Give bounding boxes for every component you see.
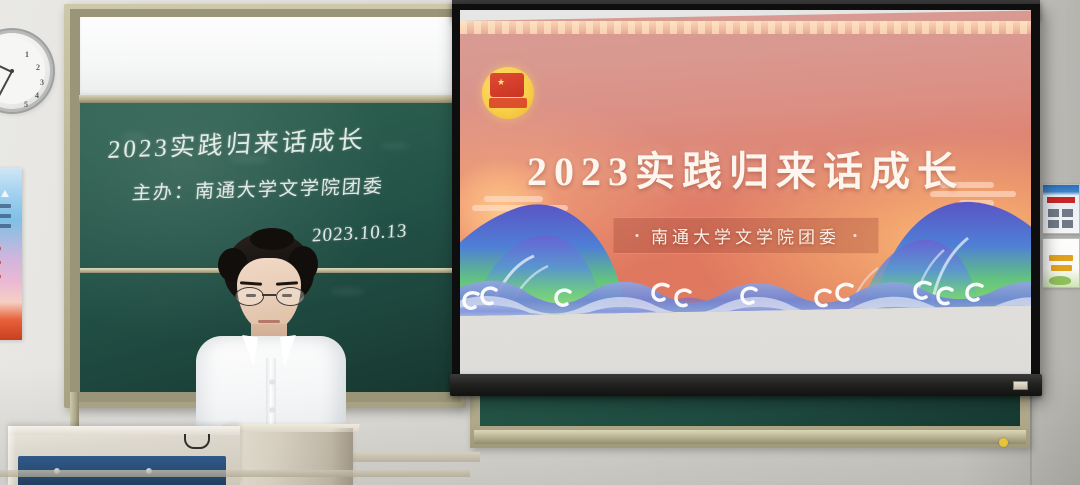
- right-wall-poster-green: [1042, 238, 1080, 288]
- leaf-icon: [1049, 276, 1071, 285]
- clock-numeral-1: 1: [25, 50, 29, 59]
- poster-cell: [1062, 209, 1073, 217]
- projection-screen: ★ 2023实践归来话成长 南通大学文学院团委: [452, 4, 1040, 396]
- whiteboard-strip: [80, 17, 452, 95]
- clock-center-hub: [10, 69, 14, 73]
- projector-screen-bottom-bar: [450, 374, 1042, 396]
- hair-tuft: [250, 228, 294, 250]
- poster-row: [0, 204, 11, 208]
- clock-numeral-4: 4: [35, 91, 39, 100]
- poster-title-bar: [1047, 197, 1075, 203]
- emblem-band: [489, 98, 527, 108]
- poster-dot: [0, 246, 1, 251]
- glasses-bridge: [262, 294, 276, 296]
- clock-numeral-2: 2: [36, 63, 40, 72]
- poster-dot: [0, 260, 1, 265]
- poster-row: [0, 214, 11, 218]
- slide: ★ 2023实践归来话成长 南通大学文学院团委: [460, 11, 1031, 316]
- star-icon: ★: [497, 78, 505, 87]
- screen-label-tag: [1013, 381, 1028, 390]
- chalkboard-host-line: 主办：南通大学文学院团委: [131, 171, 385, 205]
- mountain-wave-illustration: [460, 166, 1031, 316]
- communist-youth-league-emblem: ★: [482, 67, 534, 119]
- chalk-holder: [999, 438, 1008, 447]
- poster-text-line: [1051, 265, 1072, 271]
- shirt-button: [270, 408, 274, 412]
- poster-cell: [1048, 220, 1059, 228]
- shirt-button: [270, 380, 274, 384]
- clock-numeral-5: 5: [24, 100, 28, 109]
- glasses-lens-left: [235, 287, 264, 306]
- console-cable: [184, 434, 210, 449]
- glasses-lens-right: [276, 287, 305, 306]
- poster-row: [0, 224, 11, 228]
- chalkboard-title: 2023实践归来话成长: [107, 120, 368, 166]
- poster-triangle-icon: [1, 190, 9, 197]
- poster-cell: [1062, 220, 1073, 228]
- rear-chalk-ledge: [474, 430, 1026, 444]
- poster-dot: [0, 274, 1, 279]
- clock-face: 1 2 3 4 5: [0, 38, 45, 104]
- chalk-smudge: [380, 143, 410, 149]
- wall-ledge: [352, 452, 480, 462]
- clock-minute-hand: [0, 71, 13, 96]
- glasses: [235, 287, 303, 304]
- shirt-collar-left: [238, 335, 258, 367]
- classroom-scene: 1 2 3 4 5: [0, 0, 1080, 485]
- mouth: [258, 320, 280, 323]
- clock-numeral-3: 3: [40, 78, 44, 87]
- right-wall-poster-blue: [1042, 184, 1080, 234]
- shirt-placket: [266, 358, 276, 432]
- slide-top-border: [460, 21, 1031, 34]
- poster-text-line: [1049, 255, 1073, 261]
- front-rail: [0, 470, 470, 477]
- chalkboard-upper-ledge: [79, 95, 453, 103]
- left-wall-poster: [0, 168, 22, 340]
- emblem-flag: ★: [490, 73, 524, 97]
- poster-cell: [1048, 209, 1059, 217]
- shirt-collar-right: [280, 335, 300, 367]
- projection-screen-surface: ★ 2023实践归来话成长 南通大学文学院团委: [460, 10, 1031, 389]
